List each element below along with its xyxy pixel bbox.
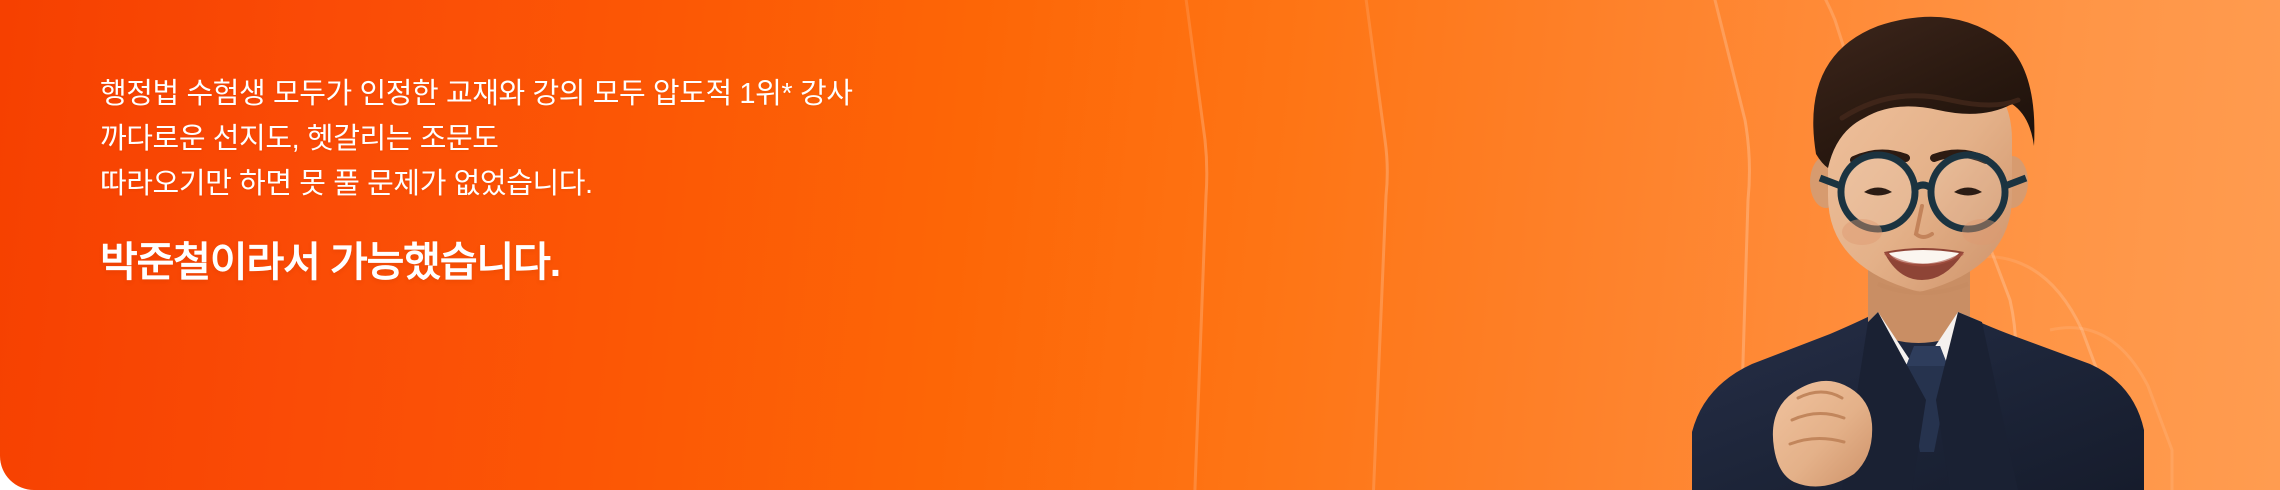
subcopy-line-1: 행정법 수험생 모두가 인정한 교재와 강의 모두 압도적 1위* 강사 (100, 72, 853, 117)
banner-headline: 박준철이라서 가능했습니다. (100, 236, 853, 288)
subcopy-line-3: 따라오기만 하면 못 풀 문제가 없었습니다. (100, 162, 853, 207)
promo-banner[interactable]: 행정법 수험생 모두가 인정한 교재와 강의 모두 압도적 1위* 강사 까다로… (0, 0, 2280, 490)
subcopy-line-2: 까다로운 선지도, 헷갈리는 조문도 (100, 117, 853, 162)
instructor-portrait (1682, 0, 2152, 490)
banner-copy: 행정법 수험생 모두가 인정한 교재와 강의 모두 압도적 1위* 강사 까다로… (100, 72, 853, 288)
